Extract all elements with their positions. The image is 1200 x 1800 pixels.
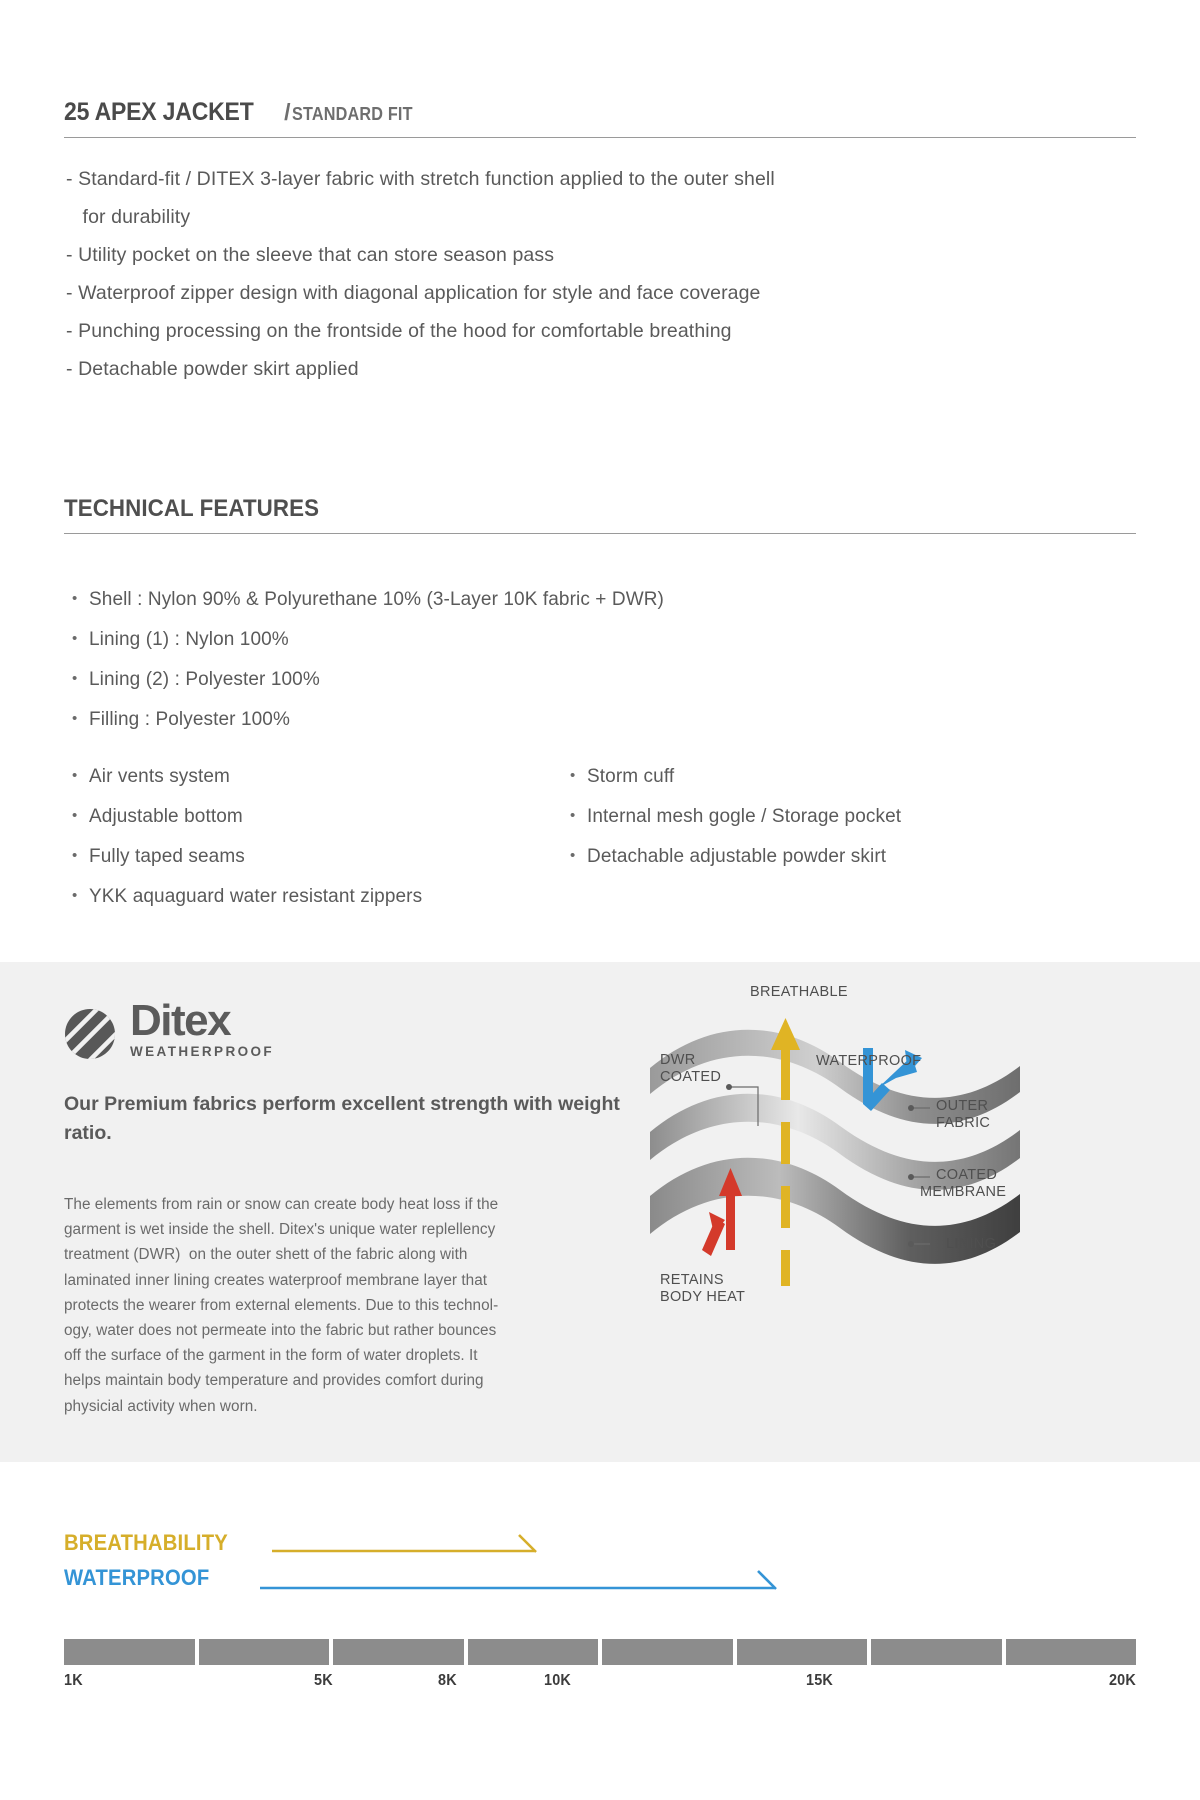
label-coated-membrane-line1: COATED [936, 1167, 997, 1184]
label-lining: LINING [946, 1236, 996, 1253]
page-title: 25 APEX JACKET [64, 98, 254, 127]
product-spec-sheet: 25 APEX JACKET / STANDARD FIT - Standard… [0, 0, 1200, 1800]
list-item: - Standard-fit / DITEX 3-layer fabric wi… [66, 160, 1146, 198]
list-item: Detachable adjustable powder skirt [570, 837, 1070, 877]
title-separator: / [270, 99, 292, 126]
list-item: Shell : Nylon 90% & Polyurethane 10% (3-… [72, 580, 664, 620]
list-item: - Utility pocket on the sleeve that can … [66, 236, 1146, 274]
scale-tick: 8K [438, 1672, 457, 1690]
body-line: off the surface of the garment in the fo… [64, 1343, 624, 1368]
ditex-lead-text: Our Premium fabrics perform excellent st… [64, 1090, 624, 1148]
list-item: Lining (2) : Polyester 100% [72, 660, 664, 700]
label-coated-membrane-line2: MEMBRANE [920, 1184, 1006, 1201]
list-item: Internal mesh gogle / Storage pocket [570, 797, 1070, 837]
ditex-logo: Ditex WEATHERPROOF [64, 1000, 274, 1060]
list-item: Fully taped seams [72, 837, 570, 877]
body-line: protects the wearer from external elemen… [64, 1293, 624, 1318]
label-dwr-coated-line1: DWR [660, 1052, 696, 1069]
brand-tagline: WEATHERPROOF [130, 1045, 274, 1059]
lining-leader-dot [908, 1241, 914, 1247]
list-item: Filling : Polyester 100% [72, 700, 664, 740]
breathability-row: BREATHABILITY [64, 1530, 1136, 1560]
scale-tick: 10K [544, 1672, 571, 1690]
scale-tick: 15K [806, 1672, 833, 1690]
list-item: Adjustable bottom [72, 797, 570, 837]
scale-segment [333, 1639, 464, 1665]
scale-tick: 1K [64, 1672, 83, 1690]
label-waterproof: WATERPROOF [816, 1053, 921, 1070]
body-line: helps maintain body temperature and prov… [64, 1368, 624, 1393]
feature-columns: Air vents system Adjustable bottom Fully… [72, 757, 1082, 917]
label-retains-heat-line2: BODY HEAT [660, 1289, 745, 1306]
label-outer-fabric-line2: FABRIC [936, 1115, 990, 1132]
section-title: TECHNICAL FEATURES [64, 495, 1061, 523]
membrane-leader-dot [908, 1174, 914, 1180]
feature-column-left: Air vents system Adjustable bottom Fully… [72, 757, 570, 917]
product-title-line: 25 APEX JACKET / STANDARD FIT [64, 98, 1136, 127]
label-breathable: BREATHABLE [750, 984, 848, 1001]
breathability-arrow-icon [64, 1530, 1136, 1560]
scale-segment [1006, 1639, 1137, 1665]
ditex-body-text: The elements from rain or snow can creat… [64, 1192, 624, 1419]
scale-segment [64, 1639, 195, 1665]
scale-segment [871, 1639, 1002, 1665]
scale-ticks: 1K 5K 8K 10K 15K 20K [64, 1672, 1136, 1694]
outer-leader-dot [908, 1105, 914, 1111]
scale-segment [199, 1639, 330, 1665]
spec-bullet-list: - Standard-fit / DITEX 3-layer fabric wi… [66, 160, 1146, 388]
list-item: YKK aquaguard water resistant zippers [72, 877, 570, 917]
list-item: - Waterproof zipper design with diagonal… [66, 274, 1146, 312]
scale-segment [468, 1639, 599, 1665]
list-item: - Punching processing on the frontside o… [66, 312, 1146, 350]
brand-name: Ditex [130, 1000, 274, 1042]
product-header: 25 APEX JACKET / STANDARD FIT [64, 98, 1136, 138]
list-item: - Detachable powder skirt applied [66, 350, 1146, 388]
scale-segment [737, 1639, 868, 1665]
scale-tick: 20K [1109, 1672, 1136, 1690]
section-divider [64, 533, 1136, 534]
feature-column-right: Storm cuff Internal mesh gogle / Storage… [570, 757, 1070, 917]
waterproof-arrow-icon [64, 1565, 1136, 1595]
body-line: ogy, water does not permeate into the fa… [64, 1318, 624, 1343]
body-line: physicial activity when worn. [64, 1394, 624, 1419]
waterproof-row: WATERPROOF [64, 1565, 1136, 1595]
scale-segment [602, 1639, 733, 1665]
label-outer-fabric-line1: OUTER [936, 1098, 988, 1115]
technical-features-header: TECHNICAL FEATURES [64, 495, 1136, 534]
label-dwr-coated-line2: COATED [660, 1069, 721, 1086]
list-item: Air vents system [72, 757, 570, 797]
dwr-leader-dot [726, 1084, 732, 1090]
body-line: The elements from rain or snow can creat… [64, 1192, 624, 1217]
fabric-layer-diagram: BREATHABLE DWR COATED WATERPROOF OUTER F… [630, 1000, 1150, 1320]
performance-scale: BREATHABILITY WATERPROOF [64, 1530, 1136, 1595]
body-line: laminated inner lining creates waterproo… [64, 1268, 624, 1293]
fit-label: STANDARD FIT [292, 104, 413, 125]
header-divider [64, 137, 1136, 138]
list-item: Storm cuff [570, 757, 1070, 797]
ditex-wordmark: Ditex WEATHERPROOF [130, 1000, 274, 1060]
label-retains-heat-line1: RETAINS [660, 1272, 724, 1289]
list-item: Lining (1) : Nylon 100% [72, 620, 664, 660]
scale-tick: 5K [314, 1672, 333, 1690]
list-item: for durability [66, 198, 1146, 236]
materials-list: Shell : Nylon 90% & Polyurethane 10% (3-… [72, 580, 664, 740]
scale-bar [64, 1639, 1136, 1665]
ditex-logo-icon [64, 1008, 116, 1060]
body-line: garment is wet inside the shell. Ditex's… [64, 1217, 624, 1242]
body-line: treatment (DWR) on the outer shett of th… [64, 1242, 624, 1267]
